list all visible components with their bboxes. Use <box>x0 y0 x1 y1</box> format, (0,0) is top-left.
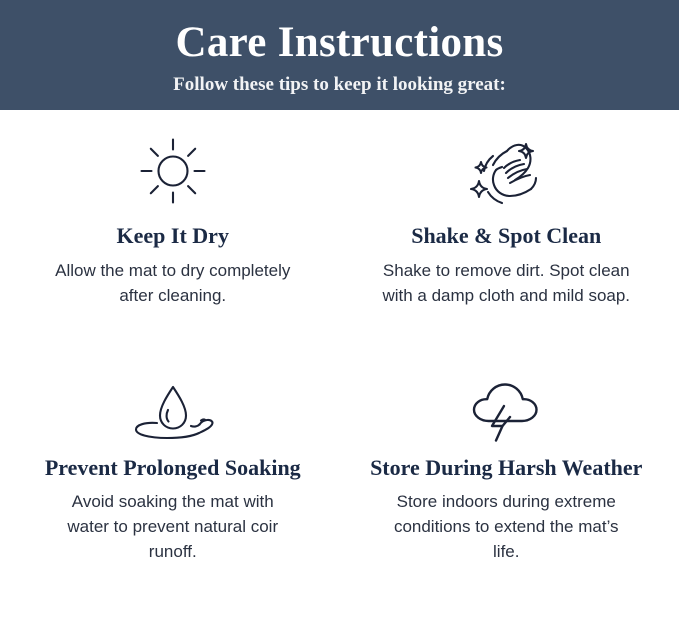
tip-card-shake-and-spot-clean: Shake & Spot Clean Shake to remove dirt.… <box>340 132 674 378</box>
page-subtitle: Follow these tips to keep it looking gre… <box>173 73 506 97</box>
tip-title: Prevent Prolonged Soaking <box>45 454 301 481</box>
tip-body: Avoid soaking the mat with water to prev… <box>49 489 297 564</box>
tip-title: Store During Harsh Weather <box>370 454 642 481</box>
header-banner: Care Instructions Follow these tips to k… <box>0 0 679 110</box>
washing-hands-sparkle-icon <box>463 132 549 210</box>
sun-icon <box>138 132 208 210</box>
tip-card-prevent-prolonged-soaking: Prevent Prolonged Soaking Avoid soaking … <box>6 378 340 624</box>
page-title: Care Instructions <box>176 18 504 68</box>
water-droplet-puddle-icon <box>127 378 219 444</box>
tip-card-keep-it-dry: Keep It Dry Allow the mat to dry complet… <box>6 132 340 378</box>
tips-grid: Keep It Dry Allow the mat to dry complet… <box>0 110 679 628</box>
tip-body: Store indoors during extreme conditions … <box>382 489 630 564</box>
tip-body: Allow the mat to dry completely after cl… <box>49 258 297 308</box>
tip-body: Shake to remove dirt. Spot clean with a … <box>382 258 630 308</box>
tip-card-store-during-harsh-weather: Store During Harsh Weather Store indoors… <box>340 378 674 624</box>
tip-title: Shake & Spot Clean <box>411 222 601 250</box>
care-instructions-infographic: Care Instructions Follow these tips to k… <box>0 0 679 628</box>
tip-title: Keep It Dry <box>117 222 229 250</box>
storm-cloud-lightning-icon <box>466 378 546 444</box>
